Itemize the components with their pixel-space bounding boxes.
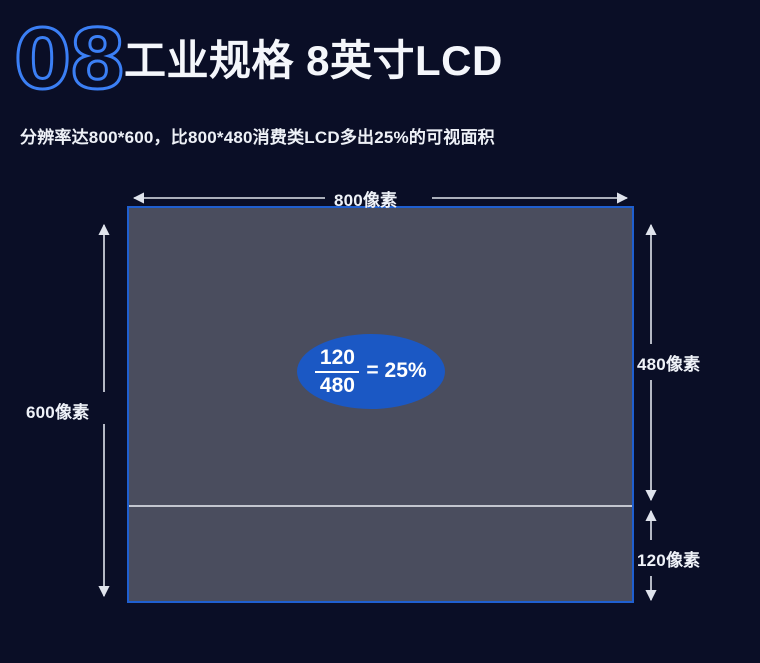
section-number: 08 bbox=[14, 20, 124, 102]
screen-area-divider bbox=[129, 505, 632, 507]
height-dimension-label: 600像素 bbox=[26, 398, 89, 423]
slide-canvas: 08 工业规格 8英寸LCD 分辨率达800*600，比800*480消费类LC… bbox=[0, 0, 760, 663]
page-subtitle: 分辨率达800*600，比800*480消费类LCD多出25%的可视面积 bbox=[20, 123, 495, 148]
lower-height-dimension-label: 120像素 bbox=[637, 546, 700, 571]
width-dimension-label: 800像素 bbox=[334, 186, 397, 211]
ratio-badge: 120 480 = 25% bbox=[297, 334, 445, 409]
ratio-denominator: 480 bbox=[318, 374, 357, 396]
fraction-bar bbox=[315, 371, 359, 373]
page-title: 工业规格 8英寸LCD bbox=[124, 36, 503, 86]
upper-height-dimension-label: 480像素 bbox=[637, 350, 700, 375]
ratio-numerator: 120 bbox=[318, 347, 357, 369]
ratio-fraction: 120 480 bbox=[315, 347, 359, 396]
ratio-result: = 25% bbox=[366, 359, 426, 384]
